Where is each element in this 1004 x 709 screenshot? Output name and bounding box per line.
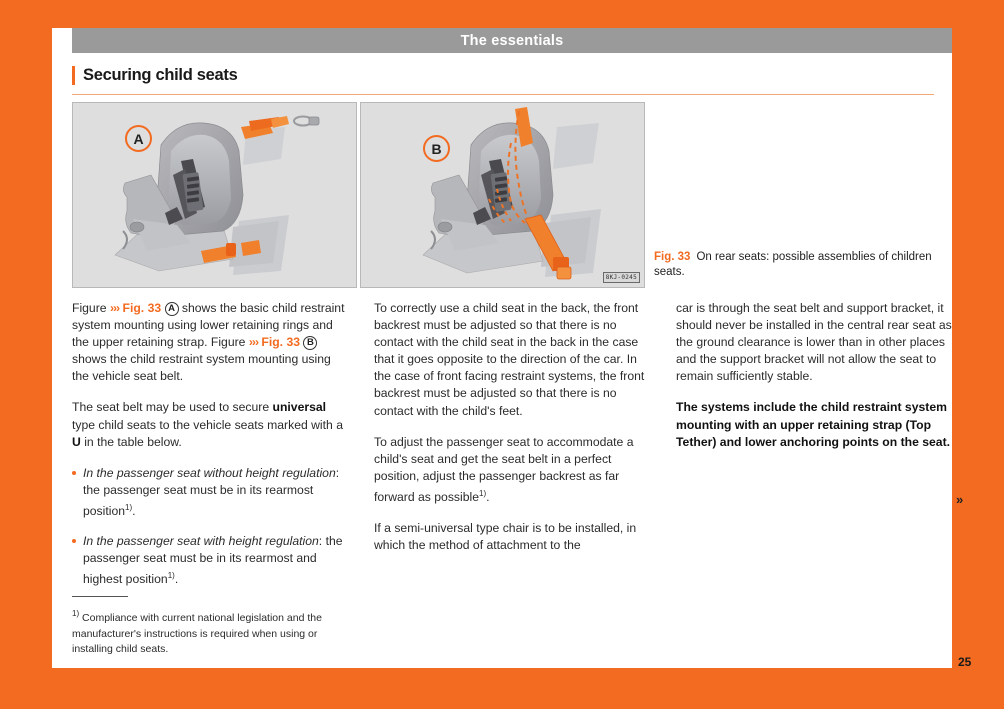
- child-seat-illustration-a: [73, 103, 356, 287]
- paragraph-universal: The seat belt may be used to secure univ…: [72, 399, 350, 450]
- paragraph-backrest: To correctly use a child seat in the bac…: [374, 300, 652, 420]
- circled-letter-a: A: [165, 302, 179, 316]
- figure-block: A: [72, 102, 952, 288]
- p1-pre: Figure: [72, 301, 110, 315]
- paragraph-systems-include: The systems include the child restraint …: [676, 399, 954, 450]
- figure-caption: Fig. 33On rear seats: possible assemblie…: [654, 250, 932, 280]
- footnote-body: Compliance with current national legisla…: [72, 612, 322, 655]
- list-item: In the passenger seat with height regula…: [72, 533, 350, 588]
- cross-ref-fig[interactable]: Fig. 33: [123, 301, 162, 315]
- footnote-divider: [72, 596, 128, 597]
- child-seat-illustration-b: [361, 103, 644, 287]
- circled-letter-b: B: [303, 336, 317, 350]
- footnote-block: 1) Compliance with current national legi…: [72, 596, 352, 658]
- page-title: Securing child seats: [83, 66, 237, 85]
- figure-panel-b: B 8KJ-0245: [360, 102, 645, 288]
- cross-ref-arrows-icon: ›››: [110, 301, 119, 315]
- paragraph-semi-universal: If a semi-universal type chair is to be …: [374, 520, 652, 554]
- bullet-1-lead: In the passenger seat without height reg…: [83, 466, 336, 480]
- footnote-text: 1) Compliance with current national legi…: [72, 606, 352, 658]
- p2-adjust-text: To adjust the passenger seat to accommod…: [374, 435, 633, 504]
- p2-mid: type child seats to the vehicle seats ma…: [72, 418, 343, 432]
- section-title-block: Securing child seats: [72, 66, 934, 85]
- text-column-2: To correctly use a child seat in the bac…: [374, 300, 652, 601]
- figure-number: Fig. 33: [654, 251, 690, 263]
- title-accent-bar: [72, 66, 75, 85]
- text-column-1: Figure ››› Fig. 33 A shows the basic chi…: [72, 300, 350, 601]
- running-header-title: The essentials: [461, 33, 564, 49]
- title-divider: [72, 94, 934, 95]
- paragraph-adjust-seat: To adjust the passenger seat to accommod…: [374, 434, 652, 506]
- paragraph-support-bracket: car is through the seat belt and support…: [676, 300, 954, 385]
- figure-label-a: A: [125, 125, 152, 152]
- page-number: 25: [958, 655, 971, 669]
- continuation-marker-icon: »: [956, 492, 963, 507]
- figure-panel-a: A: [72, 102, 357, 288]
- body-columns: Figure ››› Fig. 33 A shows the basic chi…: [72, 300, 956, 601]
- term-universal: universal: [273, 400, 327, 414]
- figure-caption-pane: Fig. 33On rear seats: possible assemblie…: [648, 102, 952, 286]
- term-u: U: [72, 435, 81, 449]
- figure-label-b: B: [423, 135, 450, 162]
- text-column-3: car is through the seat belt and support…: [676, 300, 954, 601]
- running-header: The essentials: [72, 28, 952, 53]
- cross-ref-arrows-icon-2: ›››: [249, 335, 258, 349]
- cross-ref-fig-2[interactable]: Fig. 33: [261, 335, 300, 349]
- bullet-2-end: .: [175, 572, 178, 586]
- bullet-2-lead: In the passenger seat with height regula…: [83, 534, 319, 548]
- p1-end: shows the child restraint system mountin…: [72, 352, 331, 383]
- image-code-badge: 8KJ-0245: [603, 272, 640, 283]
- list-item: In the passenger seat without height reg…: [72, 465, 350, 520]
- bullet-1-end: .: [132, 504, 135, 518]
- p2-pre: The seat belt may be used to secure: [72, 400, 273, 414]
- p2-adjust-end: .: [486, 490, 489, 504]
- footnote-ref-2: 1): [168, 571, 175, 580]
- paragraph-intro: Figure ››› Fig. 33 A shows the basic chi…: [72, 300, 350, 385]
- manual-page: The essentials Securing child seats: [52, 28, 952, 668]
- figure-caption-text: On rear seats: possible assemblies of ch…: [654, 251, 932, 278]
- footnote-marker: 1): [72, 609, 79, 618]
- p2-end: in the table below.: [81, 435, 182, 449]
